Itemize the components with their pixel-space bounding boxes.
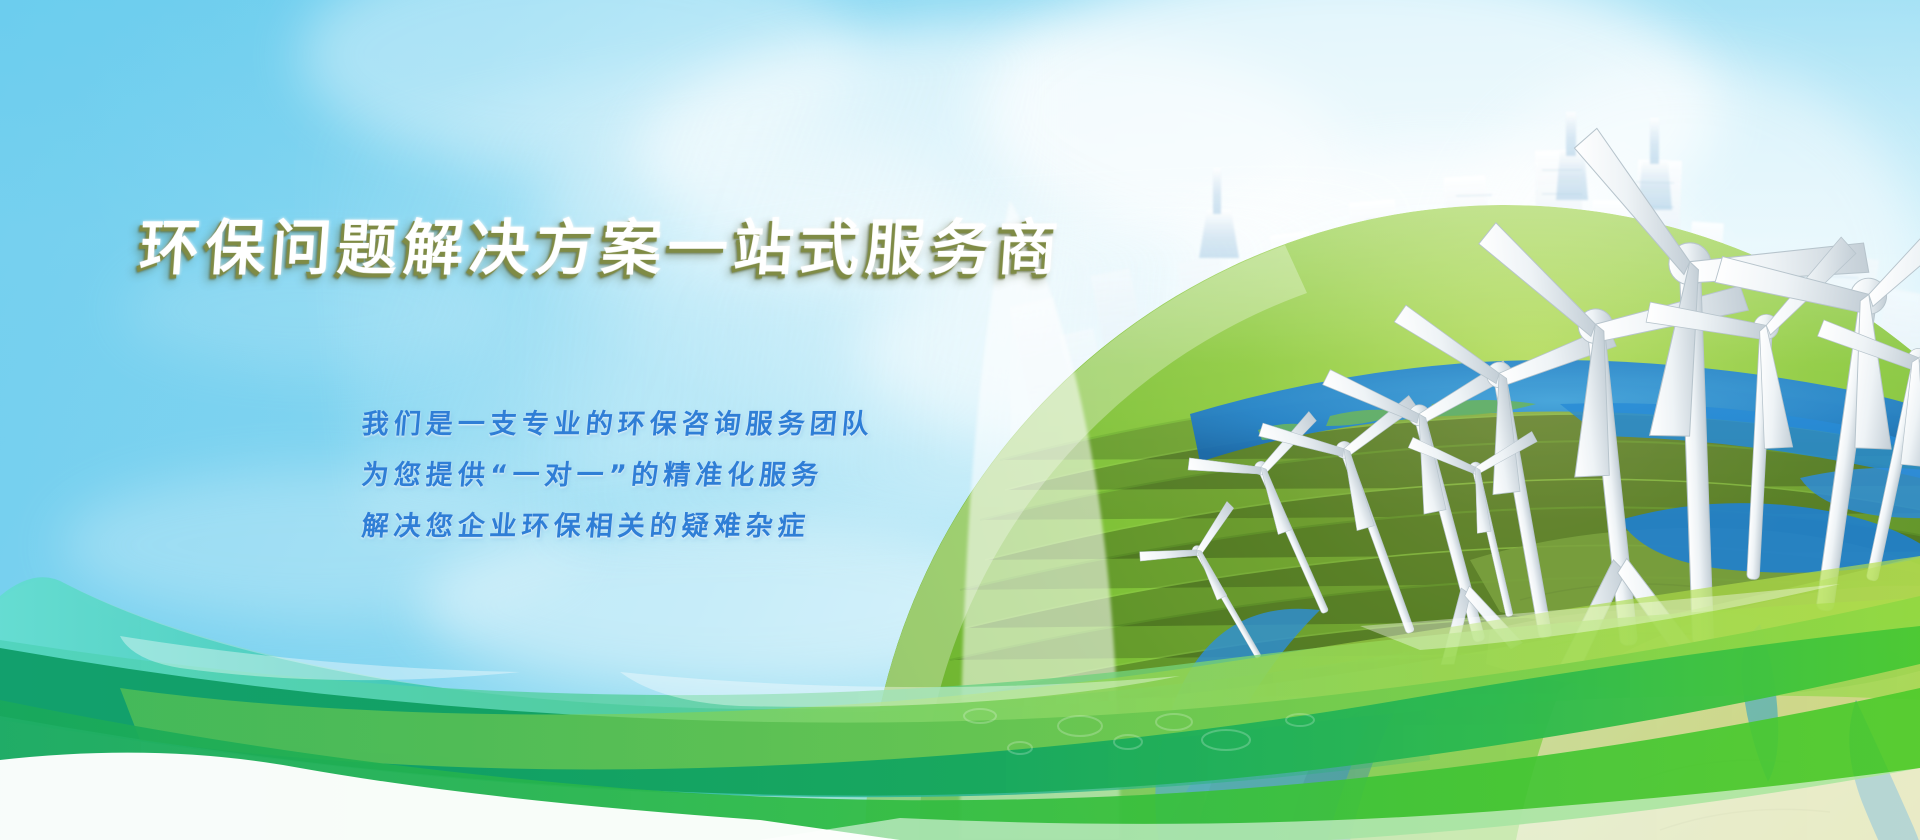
subtitle-line-2: 为您提供“一对一”的精准化服务 — [360, 453, 825, 492]
page-title: 环保问题解决方案一站式服务商 — [137, 200, 1067, 287]
subtitle-line-3: 解决您企业环保相关的疑难杂症 — [360, 504, 811, 543]
eco-hero-banner: 环保问题解决方案一站式服务商 我们是一支专业的环保咨询服务团队 为您提供“一对一… — [0, 0, 1920, 840]
subtitle-line-1: 我们是一支专业的环保咨询服务团队 — [360, 402, 875, 441]
globe-scene — [0, 0, 1920, 840]
